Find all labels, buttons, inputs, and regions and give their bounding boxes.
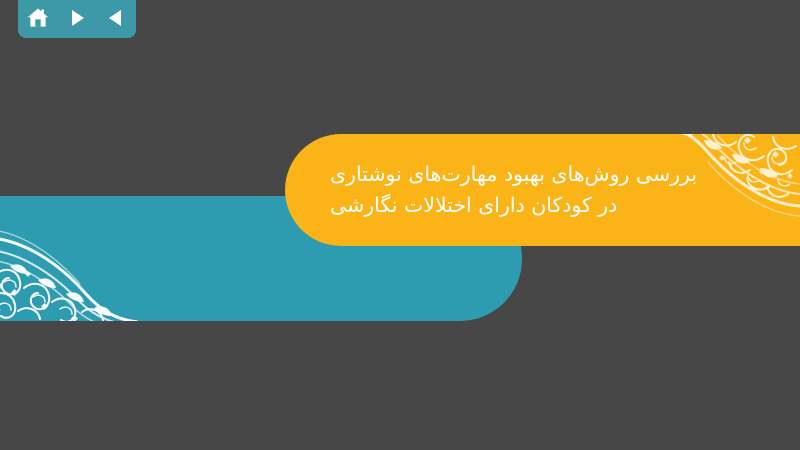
presentation-slide: بررسی روش‌های بهبود مهارت‌های نوشتاری در…	[0, 0, 800, 450]
title-banner: بررسی روش‌های بهبود مهارت‌های نوشتاری در…	[285, 134, 800, 246]
previous-slide-button[interactable]	[101, 4, 131, 32]
slide-title-line-2: در کودکان دارای اختلالات نگارشی	[330, 190, 617, 221]
arabesque-corner-ornament	[0, 196, 138, 321]
home-icon	[26, 6, 50, 30]
navigation-toolbar	[18, 0, 136, 38]
triangle-right-icon	[66, 7, 88, 29]
slide-title-line-1: بررسی روش‌های بهبود مهارت‌های نوشتاری	[330, 159, 697, 190]
triangle-left-icon	[105, 7, 127, 29]
slide-title: بررسی روش‌های بهبود مهارت‌های نوشتاری در…	[330, 134, 710, 246]
next-slide-button[interactable]	[62, 4, 92, 32]
home-button[interactable]	[23, 4, 53, 32]
